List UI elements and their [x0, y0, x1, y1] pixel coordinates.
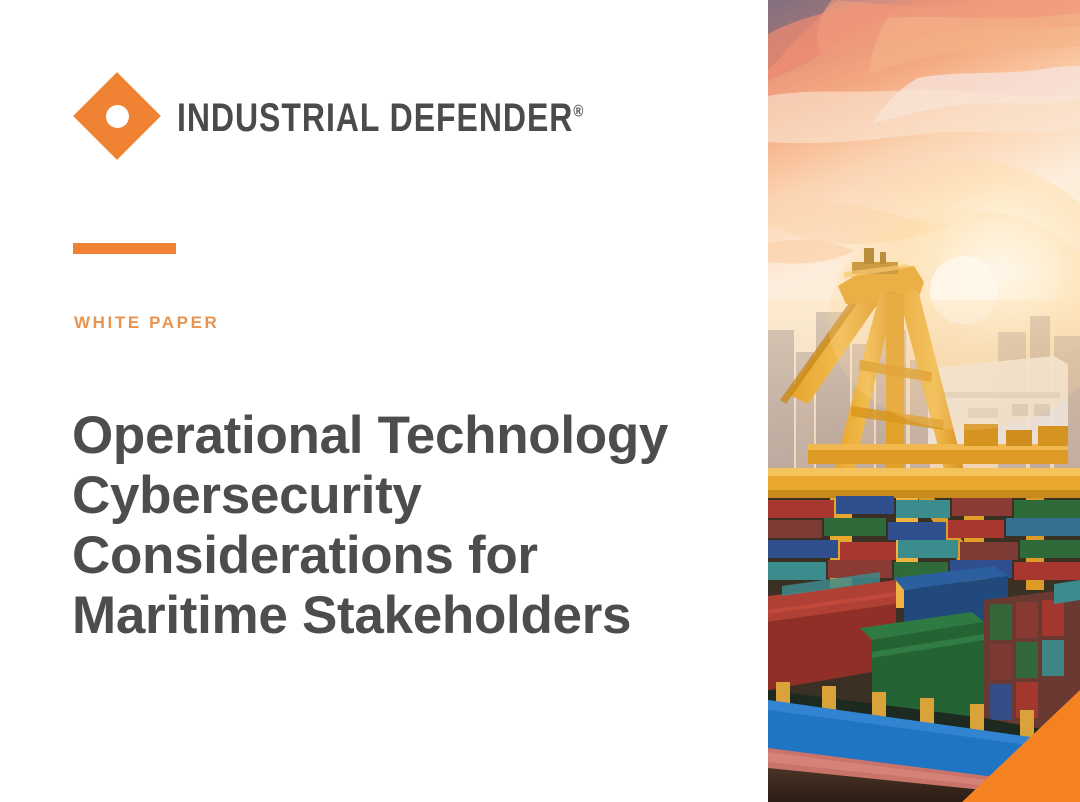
cover-photo-container-port [768, 0, 1080, 802]
title-line: Cybersecurity [72, 466, 732, 526]
document-type-eyebrow: WHITE PAPER [74, 313, 219, 333]
title-line: Operational Technology [72, 406, 732, 466]
brand-name-text: INDUSTRIAL DEFENDER [177, 96, 573, 140]
cover-content-column: INDUSTRIAL DEFENDER® WHITE PAPER Operati… [0, 0, 768, 802]
page-title: Operational Technology Cybersecurity Con… [72, 406, 732, 646]
accent-divider-rule [73, 243, 176, 254]
document-cover-page: INDUSTRIAL DEFENDER® WHITE PAPER Operati… [0, 0, 1080, 802]
title-line: Considerations for [72, 526, 732, 586]
registered-trademark-symbol: ® [573, 102, 583, 121]
brand-wordmark: INDUSTRIAL DEFENDER® [177, 98, 583, 138]
port-sunset-illustration [768, 0, 1080, 802]
brand-logo-lockup: INDUSTRIAL DEFENDER® [73, 70, 685, 162]
title-line: Maritime Stakeholders [72, 586, 732, 646]
industrial-defender-diamond-icon [73, 72, 161, 160]
circle-cutout [106, 105, 129, 128]
